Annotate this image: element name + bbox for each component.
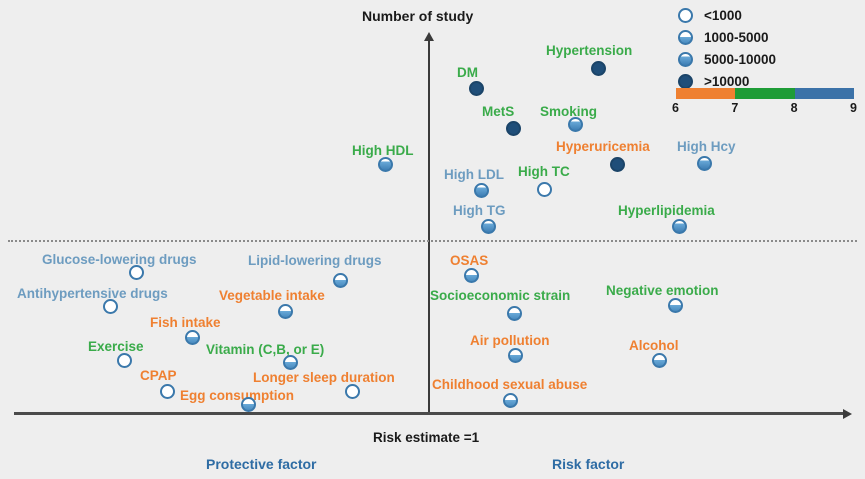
point-label: Childhood sexual abuse xyxy=(432,377,587,392)
y-axis-line xyxy=(428,40,430,415)
legend-marker-icon xyxy=(678,30,693,45)
data-point[interactable] xyxy=(474,183,489,198)
point-label: Antihypertensive drugs xyxy=(17,286,168,301)
point-label: Glucose-lowering drugs xyxy=(42,252,197,267)
point-label: Socioeconomic strain xyxy=(430,288,570,303)
point-label: Negative emotion xyxy=(606,283,719,298)
data-point[interactable] xyxy=(481,219,496,234)
legend-marker-icon xyxy=(678,52,693,67)
legend-entry[interactable]: 1000-5000 xyxy=(678,30,769,45)
data-point[interactable] xyxy=(241,397,256,412)
point-label: High Hcy xyxy=(677,139,736,154)
legend-label: >10000 xyxy=(704,74,749,89)
colorbar-tick-label: 9 xyxy=(850,101,857,115)
point-label: Hyperlipidemia xyxy=(618,203,715,218)
colorbar-tick-label: 7 xyxy=(731,101,738,115)
data-point[interactable] xyxy=(503,393,518,408)
x-axis-label: Risk estimate =1 xyxy=(373,430,479,445)
legend-marker-icon xyxy=(678,8,693,23)
data-point[interactable] xyxy=(507,306,522,321)
point-label: Air pollution xyxy=(470,333,549,348)
point-label: Smoking xyxy=(540,104,597,119)
colorbar-segment xyxy=(676,88,735,99)
data-point[interactable] xyxy=(378,157,393,172)
point-label: Egg consumption xyxy=(180,388,294,403)
point-label: Lipid-lowering drugs xyxy=(248,253,382,268)
data-point[interactable] xyxy=(278,304,293,319)
point-label: High LDL xyxy=(444,167,504,182)
x-axis-line xyxy=(14,412,846,415)
data-point[interactable] xyxy=(652,353,667,368)
data-point[interactable] xyxy=(568,117,583,132)
colorbar-tick-label: 6 xyxy=(672,101,679,115)
data-point[interactable] xyxy=(129,265,144,280)
point-label: Longer sleep duration xyxy=(253,370,395,385)
reference-dashed-line xyxy=(8,240,857,242)
point-label: Exercise xyxy=(88,339,144,354)
data-point[interactable] xyxy=(697,156,712,171)
data-point[interactable] xyxy=(591,61,606,76)
point-label: Alcohol xyxy=(629,338,679,353)
chart-canvas: Number of study Risk estimate =1 Protect… xyxy=(0,0,865,479)
legend-label: 1000-5000 xyxy=(704,30,769,45)
point-label: Hyperuricemia xyxy=(556,139,650,154)
point-label: OSAS xyxy=(450,253,488,268)
colorbar-tick-label: 8 xyxy=(791,101,798,115)
point-label: CPAP xyxy=(140,368,177,383)
data-point[interactable] xyxy=(610,157,625,172)
data-point[interactable] xyxy=(160,384,175,399)
legend-label: 5000-10000 xyxy=(704,52,776,67)
data-point[interactable] xyxy=(117,353,132,368)
data-point[interactable] xyxy=(508,348,523,363)
point-label: Fish intake xyxy=(150,315,221,330)
colorbar-segment xyxy=(735,88,794,99)
colorbar xyxy=(676,88,854,99)
point-label: Vitamin (C,B, or E) xyxy=(206,342,324,357)
point-label: Hypertension xyxy=(546,43,632,58)
legend-marker-icon xyxy=(678,74,693,89)
point-label: High HDL xyxy=(352,143,414,158)
legend-entry[interactable]: <1000 xyxy=(678,8,742,23)
data-point[interactable] xyxy=(345,384,360,399)
point-label: DM xyxy=(457,65,478,80)
point-label: High TG xyxy=(453,203,506,218)
data-point[interactable] xyxy=(537,182,552,197)
legend-entry[interactable]: 5000-10000 xyxy=(678,52,776,67)
data-point[interactable] xyxy=(506,121,521,136)
data-point[interactable] xyxy=(469,81,484,96)
x-axis-arrow xyxy=(843,409,852,419)
point-label: Vegetable intake xyxy=(219,288,325,303)
data-point[interactable] xyxy=(283,355,298,370)
data-point[interactable] xyxy=(672,219,687,234)
legend-entry[interactable]: >10000 xyxy=(678,74,749,89)
data-point[interactable] xyxy=(464,268,479,283)
data-point[interactable] xyxy=(333,273,348,288)
legend-label: <1000 xyxy=(704,8,742,23)
point-label: MetS xyxy=(482,104,514,119)
chart-title: Number of study xyxy=(362,8,473,24)
data-point[interactable] xyxy=(668,298,683,313)
colorbar-segment xyxy=(795,88,854,99)
point-label: High TC xyxy=(518,164,570,179)
colorbar-ticks: 6789 xyxy=(676,101,854,119)
protective-factor-label: Protective factor xyxy=(206,456,316,472)
risk-factor-label: Risk factor xyxy=(552,456,624,472)
data-point[interactable] xyxy=(185,330,200,345)
data-point[interactable] xyxy=(103,299,118,314)
